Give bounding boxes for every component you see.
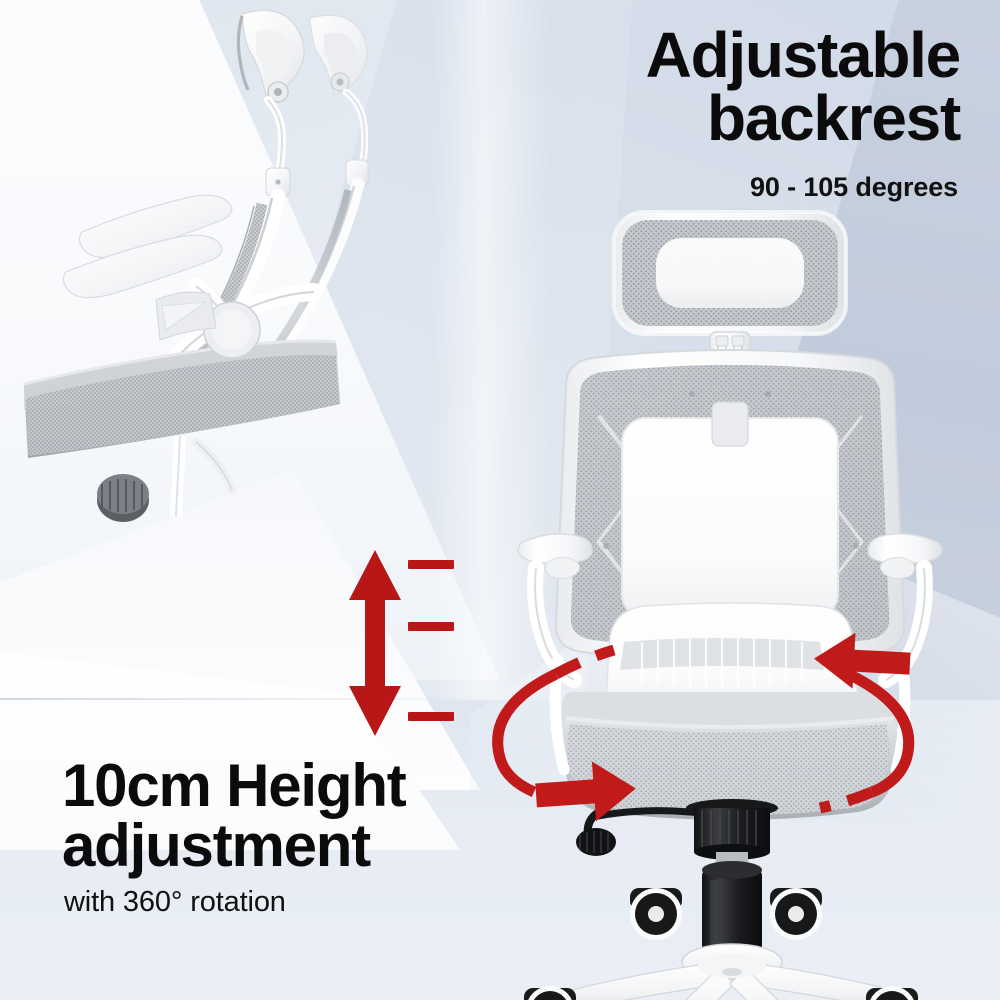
subtext-backrest-degrees: 90 - 105 degrees bbox=[750, 172, 958, 203]
height-tick-1 bbox=[408, 560, 454, 569]
caster-front-right bbox=[770, 888, 822, 940]
headline-backrest-line2: backrest bbox=[646, 87, 960, 150]
product-banner: Adjustable backrest 90 - 105 degrees 10c… bbox=[0, 0, 1000, 1000]
headline-backrest: Adjustable backrest bbox=[646, 24, 960, 149]
headline-backrest-line1: Adjustable bbox=[646, 19, 960, 91]
rotation-arrows bbox=[440, 612, 960, 842]
front-casters bbox=[470, 880, 990, 1000]
headline-height-line1: 10cm Height bbox=[62, 752, 406, 819]
headline-height: 10cm Height adjustment bbox=[62, 756, 406, 876]
height-adjustment-arrow bbox=[345, 548, 405, 738]
double-headed-vertical-arrow-icon bbox=[349, 550, 401, 736]
rotation-arrowhead-left bbox=[534, 759, 638, 826]
headline-height-line2: adjustment bbox=[62, 816, 406, 876]
chair-side-view-inset bbox=[10, 0, 440, 560]
subtext-rotation: with 360° rotation bbox=[64, 886, 286, 919]
tilt-knob-inset bbox=[97, 474, 149, 522]
caster-front-left bbox=[630, 888, 682, 940]
chair-front-view bbox=[470, 190, 990, 990]
